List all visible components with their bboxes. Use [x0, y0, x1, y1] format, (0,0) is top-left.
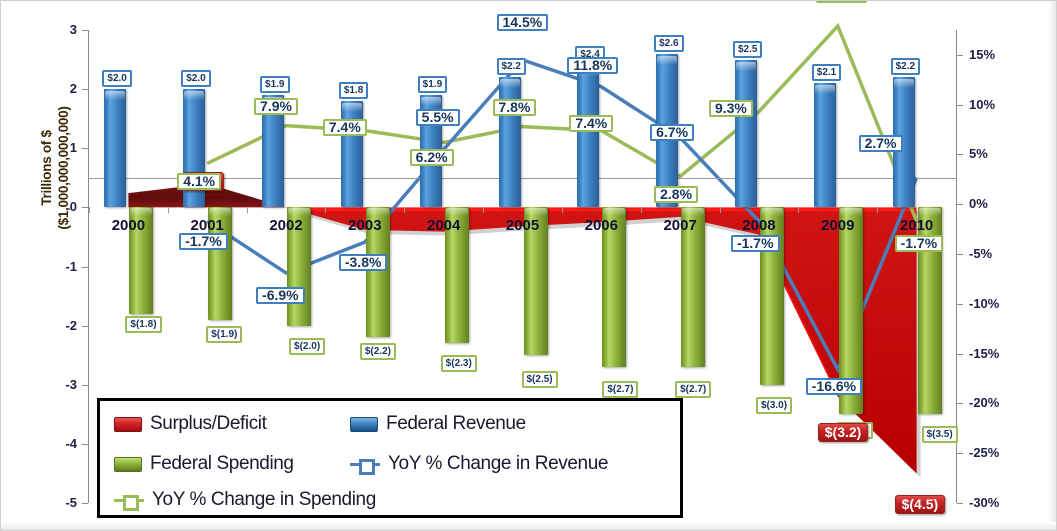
federal-revenue-data-label: $2.2	[891, 58, 920, 75]
y-axis-tick-label: -4	[17, 436, 77, 451]
yoy-spending-marker-icon	[114, 493, 144, 507]
surplus-deficit-swatch-icon	[114, 417, 142, 432]
y2-axis-tick-label: -15%	[969, 346, 999, 361]
y2-axis-tick	[957, 105, 963, 106]
yoy-revenue-data-label: 14.5%	[497, 14, 549, 31]
category-tick	[168, 207, 169, 213]
y-axis-tick	[82, 89, 88, 90]
x-axis-category-label: 2004	[409, 217, 479, 234]
x-axis-category-label: 2001	[172, 217, 242, 234]
federal-revenue-data-label: $2.5	[733, 41, 762, 58]
y-axis-tick-label: 2	[17, 81, 77, 96]
yoy-revenue-data-label: -1.7%	[731, 235, 780, 252]
y2-axis-tick-label: -5%	[969, 246, 992, 261]
y2-axis-tick	[957, 55, 963, 56]
y-axis-tick-label: 0	[17, 199, 77, 214]
legend-label: YoY % Change in Revenue	[388, 453, 608, 475]
y-axis-tick	[82, 385, 88, 386]
federal-spending-data-label: $(2.3)	[441, 355, 477, 372]
category-tick	[877, 207, 878, 213]
surplus-deficit-data-label: $(3.2)	[818, 423, 869, 442]
y2-axis-tick-label: -30%	[969, 495, 999, 510]
legend-label: Federal Revenue	[386, 413, 526, 435]
y-axis-tick-label: -1	[17, 259, 77, 274]
federal-spending-data-label: $(2.7)	[675, 381, 711, 398]
y-axis-tick-label: -2	[17, 318, 77, 333]
yoy-revenue-data-label: -16.6%	[806, 378, 862, 395]
yoy-revenue-data-label: -3.8%	[339, 254, 388, 271]
y-axis-tick	[82, 503, 88, 504]
category-tick	[247, 207, 248, 213]
y-axis-tick	[82, 326, 88, 327]
federal-revenue-data-label: $2.0	[102, 70, 131, 87]
federal-spending-data-label: $(2.0)	[289, 338, 325, 355]
y2-axis-tick	[957, 304, 963, 305]
yoy-revenue-data-label: -1.7%	[179, 233, 228, 250]
y2-axis-tick-label: 15%	[969, 47, 995, 62]
x-axis-category-label: 2000	[93, 217, 163, 234]
federal-revenue-data-label: $2.0	[181, 70, 210, 87]
y-axis-tick-label: 1	[17, 140, 77, 155]
federal-revenue-bar[interactable]	[499, 77, 521, 207]
y-axis-tick	[82, 30, 88, 31]
y-axis-tick	[82, 444, 88, 445]
y2-axis-tick-label: -20%	[969, 395, 999, 410]
federal-revenue-swatch-icon	[350, 417, 378, 432]
y-axis-tick	[82, 207, 88, 208]
yoy-spending-data-label: 9.3%	[709, 100, 753, 117]
category-tick	[562, 207, 563, 213]
surplus-deficit-data-label: $(4.5)	[895, 495, 946, 514]
legend-item-federal-spending[interactable]: Federal Spending	[114, 451, 294, 477]
yoy-spending-data-label: 4.1%	[177, 173, 221, 190]
x-axis-category-label: 2005	[488, 217, 558, 234]
y-axis-tick-label: -5	[17, 495, 77, 510]
yoy-revenue-data-label: 6.7%	[650, 124, 694, 141]
federal-spending-data-label: $(2.7)	[602, 381, 638, 398]
chart-legend: Surplus/Deficit Federal Revenue Federal …	[97, 398, 683, 518]
yoy-revenue-marker-icon	[350, 457, 380, 471]
x-axis-category-label: 2006	[566, 217, 636, 234]
y-axis-tick-label: 3	[17, 22, 77, 37]
legend-item-federal-revenue[interactable]: Federal Revenue	[350, 411, 526, 437]
yoy-spending-data-label: -1.7%	[895, 235, 944, 252]
x-axis-category-label: 2002	[251, 217, 321, 234]
federal-revenue-data-label: $2.1	[812, 64, 841, 81]
category-tick	[641, 207, 642, 213]
legend-label: Surplus/Deficit	[150, 413, 267, 435]
legend-item-surplus-deficit[interactable]: Surplus/Deficit	[114, 411, 267, 437]
yoy-revenue-data-label: 11.8%	[567, 57, 618, 74]
yoy-spending-data-label: 7.9%	[254, 98, 298, 115]
x-axis-category-label: 2007	[645, 217, 715, 234]
federal-revenue-bar[interactable]	[577, 65, 599, 207]
federal-spending-swatch-icon	[114, 457, 142, 472]
chart-frame: Trillions of $ ($1,000,000,000,000)	[0, 0, 1057, 531]
y2-axis-tick	[957, 403, 963, 404]
yoy-spending-data-label: 17.9%	[816, 0, 868, 3]
category-tick	[89, 207, 90, 213]
federal-spending-data-label: $(2.5)	[522, 371, 558, 388]
federal-revenue-bar[interactable]	[104, 89, 126, 207]
y-axis-tick-label: -3	[17, 377, 77, 392]
yoy-spending-data-label: 7.4%	[323, 119, 367, 136]
yoy-spending-data-label: 7.8%	[493, 99, 537, 116]
federal-spending-data-label: $(3.5)	[922, 426, 958, 443]
federal-revenue-bar[interactable]	[735, 60, 757, 208]
yoy-spending-data-label: 2.8%	[654, 186, 698, 203]
y2-axis-tick-label: 0%	[969, 196, 988, 211]
category-tick	[325, 207, 326, 213]
y2-axis-tick	[957, 354, 963, 355]
y2-axis-tick-label: -25%	[969, 445, 999, 460]
category-tick	[956, 207, 957, 213]
federal-revenue-data-label: $1.9	[418, 76, 447, 93]
y2-axis-tick	[957, 254, 963, 255]
y2-axis-tick	[957, 453, 963, 454]
federal-spending-data-label: $(2.2)	[360, 343, 396, 360]
yoy-revenue-data-label: 2.7%	[859, 135, 903, 152]
yoy-spending-data-label: 7.4%	[569, 115, 613, 132]
y2-axis-tick	[957, 154, 963, 155]
x-axis-category-label: 2010	[882, 217, 952, 234]
category-tick	[404, 207, 405, 213]
category-tick	[798, 207, 799, 213]
x-axis-category-label: 2009	[803, 217, 873, 234]
y2-axis-tick	[957, 503, 963, 504]
category-tick	[720, 207, 721, 213]
y2-axis-tick-label: -10%	[969, 296, 999, 311]
federal-spending-data-label: $(1.9)	[206, 326, 242, 343]
y2-axis-tick	[957, 204, 963, 205]
x-axis-category-label: 2003	[330, 217, 400, 234]
federal-revenue-data-label: $1.8	[339, 82, 368, 99]
federal-spending-data-label: $(3.0)	[756, 397, 792, 414]
y-axis-tick	[82, 148, 88, 149]
x-axis-category-label: 2008	[724, 217, 794, 234]
federal-revenue-data-label: $2.2	[497, 58, 526, 75]
y2-axis-tick-label: 5%	[969, 146, 988, 161]
legend-item-yoy-spending[interactable]: YoY % Change in Spending	[114, 487, 376, 513]
yoy-revenue-data-label: 5.5%	[416, 109, 460, 126]
legend-label: Federal Spending	[150, 453, 294, 475]
federal-spending-data-label: $(1.8)	[125, 316, 161, 333]
federal-revenue-data-label: $1.9	[260, 76, 289, 93]
federal-revenue-bar[interactable]	[341, 101, 363, 207]
federal-revenue-bar[interactable]	[814, 83, 836, 207]
y2-axis-tick-label: 10%	[969, 97, 995, 112]
category-tick	[483, 207, 484, 213]
federal-revenue-data-label: $2.6	[654, 35, 683, 52]
y-axis-tick	[82, 267, 88, 268]
legend-item-yoy-revenue[interactable]: YoY % Change in Revenue	[350, 451, 608, 477]
legend-label: YoY % Change in Spending	[152, 489, 376, 511]
yoy-revenue-data-label: -6.9%	[256, 287, 305, 304]
yoy-spending-data-label: 6.2%	[410, 149, 454, 166]
